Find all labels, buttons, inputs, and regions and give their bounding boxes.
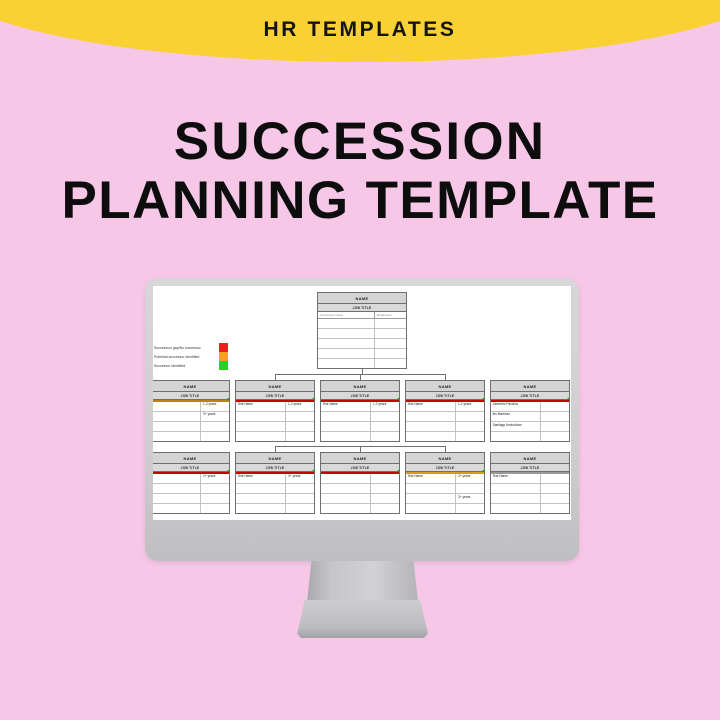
cell-readiness[interactable]: 1-2 years [456,402,484,411]
cell-readiness[interactable] [371,422,399,431]
connector-line [360,374,361,380]
cell-successor-name[interactable] [318,359,375,368]
cell-successor-name[interactable] [321,504,371,513]
cell-successor-name[interactable]: Santiago Kechichian [491,422,541,431]
comment-flag-icon [312,398,315,401]
table-row[interactable] [321,474,399,484]
node-job-title: JOB TITLE [406,464,484,472]
cell-readiness[interactable] [541,432,569,441]
table-row[interactable] [321,504,399,513]
comment-flag-icon [227,470,230,473]
node-name: NAME [321,453,399,464]
cell-successor-name[interactable] [406,504,456,513]
table-row[interactable]: 2+ years [153,474,229,484]
table-row[interactable] [406,484,484,494]
org-node-l2-4[interactable]: NAMEJOB TITLETest Name1-2 years [405,380,485,442]
comment-flag-icon [482,470,485,473]
comment-flag-icon [567,398,570,401]
cell-readiness[interactable] [201,484,229,493]
table-row[interactable] [236,484,314,494]
legend-label: Succession gap/No successor [154,346,216,350]
chart-legend: Succession gap/No successorPotential suc… [154,343,228,370]
cell-successor-name[interactable]: Test Name [321,402,371,411]
cell-readiness[interactable] [541,422,569,431]
node-job-title: JOB TITLE [153,464,229,472]
node-job-title: JOB TITLE [321,464,399,472]
cell-successor-name[interactable] [318,319,375,328]
cell-successor-name[interactable] [406,494,456,503]
table-row[interactable] [318,359,406,368]
comment-flag-icon [397,470,400,473]
node-name: NAME [406,381,484,392]
legend-item: Potential successor identified [154,352,228,361]
table-row[interactable]: Demetrio Pacchia [491,402,569,412]
legend-swatch [219,352,228,361]
node-name: NAME [491,381,569,392]
cell-successor-name[interactable]: Test Name [236,474,286,483]
org-node-l2-5[interactable]: NAMEJOB TITLEDemetrio PacchiaIris Martin… [490,380,570,442]
cell-successor-name[interactable] [153,474,201,483]
legend-label: Successor identified [154,364,216,368]
cell-successor-name[interactable] [236,422,286,431]
node-name: NAME [318,293,406,304]
cell-readiness[interactable] [375,359,406,368]
cell-readiness[interactable] [371,432,399,441]
table-row[interactable] [318,329,406,339]
page-title: SUCCESSION PLANNING TEMPLATE [0,112,720,230]
cell-successor-name[interactable] [153,504,201,513]
cell-readiness[interactable]: 2+ years [456,494,484,503]
node-name: NAME [406,453,484,464]
node-name: NAME [236,453,314,464]
cell-readiness[interactable] [375,349,406,358]
org-node-l3-4[interactable]: NAMEJOB TITLETest Name2+ years2+ years [405,452,485,514]
org-node-root[interactable]: NAMEJOB TITLESuccessor nameReadiness [317,292,407,369]
node-job-title: JOB TITLE [491,464,569,472]
table-row[interactable] [236,494,314,504]
table-row[interactable] [236,432,314,441]
cell-successor-name[interactable] [153,494,201,503]
cell-successor-name[interactable] [491,504,541,513]
cell-readiness[interactable] [286,504,314,513]
connector-line [275,446,276,452]
cell-successor-name[interactable]: Test Name [491,474,541,483]
cell-readiness[interactable] [456,422,484,431]
node-job-title: JOB TITLE [321,392,399,400]
cell-successor-name[interactable] [318,339,375,348]
cell-successor-name[interactable] [321,412,371,421]
table-row[interactable]: Test Name2+ years [406,474,484,484]
comment-flag-icon [227,398,230,401]
cell-successor-name[interactable] [236,484,286,493]
cell-successor-name[interactable] [321,494,371,503]
table-row[interactable]: Test Name3+ years [236,474,314,484]
cell-successor-name[interactable]: Test Name [236,402,286,411]
node-successor-table[interactable]: Test Name1-2 years [406,402,484,441]
cell-readiness[interactable] [371,484,399,493]
cell-readiness[interactable] [541,402,569,411]
node-job-title: JOB TITLE [406,392,484,400]
table-row[interactable]: Test Name1-2 years [236,402,314,412]
cell-successor-name[interactable] [236,494,286,503]
comment-flag-icon [312,470,315,473]
cell-successor-name[interactable] [406,432,456,441]
node-successor-table[interactable]: 1-2 years3+ years [153,402,229,441]
cell-readiness[interactable]: 1-2 years [371,402,399,411]
cell-readiness[interactable]: 2+ years [456,474,484,483]
headline-line-1: SUCCESSION [174,112,546,171]
cell-readiness[interactable] [286,484,314,493]
node-successor-table[interactable]: Demetrio PacchiaIris MartinezSantiago Ke… [491,402,569,441]
table-row[interactable] [153,432,229,441]
cell-readiness[interactable] [286,494,314,503]
table-row[interactable] [321,484,399,494]
table-row[interactable] [321,494,399,504]
cell-successor-name[interactable] [318,349,375,358]
cell-readiness[interactable] [201,494,229,503]
cell-readiness[interactable] [371,504,399,513]
table-row[interactable] [321,412,399,422]
monitor-stand-neck [307,561,418,602]
monitor-stand-base [297,600,428,638]
table-row[interactable]: Santiago Kechichian [491,422,569,432]
comment-flag-icon [482,398,485,401]
cell-successor-name[interactable] [321,422,371,431]
cell-readiness[interactable] [201,504,229,513]
org-node-l2-3[interactable]: NAMEJOB TITLETest Name1-2 years [320,380,400,442]
table-row[interactable] [491,494,569,504]
monitor-chin [153,520,571,561]
table-row[interactable]: Test Name1-2 years [406,402,484,412]
cell-readiness[interactable] [286,422,314,431]
cell-successor-name[interactable] [406,484,456,493]
table-row[interactable]: 2+ years [406,494,484,504]
org-node-l3-5[interactable]: NAMEJOB TITLETest Name [490,452,570,514]
cell-readiness[interactable] [541,504,569,513]
node-job-title: JOB TITLE [236,392,314,400]
cell-readiness[interactable]: 3+ years [201,412,229,421]
table-row[interactable] [153,494,229,504]
table-row[interactable]: 1-2 years [153,402,229,412]
node-successor-table[interactable]: 2+ years [153,474,229,513]
table-row[interactable]: Test Name [491,474,569,484]
cell-successor-name[interactable] [236,504,286,513]
legend-label: Potential successor identified [154,355,216,359]
node-successor-table[interactable] [318,319,406,368]
org-node-l2-1[interactable]: NAMEJOB TITLE1-2 years3+ years [153,380,230,442]
cell-successor-name[interactable] [491,494,541,503]
node-name: NAME [153,453,229,464]
org-node-l3-2[interactable]: NAMEJOB TITLETest Name3+ years [235,452,315,514]
table-row[interactable] [491,504,569,513]
table-row[interactable] [318,319,406,329]
cell-successor-name[interactable]: Iris Martinez [491,412,541,421]
table-row[interactable]: Iris Martinez [491,412,569,422]
col-readiness: Readiness [375,312,406,318]
cell-successor-name[interactable] [318,329,375,338]
table-row[interactable] [153,484,229,494]
legend-item: Succession gap/No successor [154,343,228,352]
node-successor-table[interactable] [321,474,399,513]
cell-successor-name[interactable] [153,412,201,421]
cell-readiness[interactable]: 3+ years [286,474,314,483]
node-name: NAME [153,381,229,392]
connector-line [445,446,446,452]
legend-swatch [219,361,228,370]
monitor-body: Succession gap/No successorPotential suc… [145,278,579,561]
headline-line-2: PLANNING TEMPLATE [0,171,720,230]
node-successor-table[interactable]: Test Name1-2 years [236,402,314,441]
connector-line [445,374,446,380]
table-row[interactable] [321,422,399,432]
cell-readiness[interactable] [286,432,314,441]
cell-successor-name[interactable] [236,432,286,441]
cell-readiness[interactable] [375,319,406,328]
succession-org-chart[interactable]: Succession gap/No successorPotential suc… [153,286,571,520]
cell-successor-name[interactable] [491,432,541,441]
cell-readiness[interactable] [541,494,569,503]
table-row[interactable] [321,432,399,441]
node-name: NAME [236,381,314,392]
node-name: NAME [491,453,569,464]
cell-readiness[interactable] [541,484,569,493]
monitor-screen: Succession gap/No successorPotential suc… [153,286,571,520]
node-successor-table[interactable]: Test Name2+ years2+ years [406,474,484,513]
cell-readiness[interactable]: 2+ years [201,474,229,483]
cell-readiness[interactable] [201,422,229,431]
table-row[interactable] [153,422,229,432]
org-node-l3-1[interactable]: NAMEJOB TITLE2+ years [153,452,230,514]
cell-readiness[interactable] [201,432,229,441]
cell-successor-name[interactable] [153,422,201,431]
node-successor-table[interactable]: Test Name3+ years [236,474,314,513]
node-job-title: JOB TITLE [318,304,406,312]
cell-successor-name[interactable] [153,402,201,411]
table-row[interactable] [491,432,569,441]
node-successor-table[interactable]: Test Name [491,474,569,513]
node-job-title: JOB TITLE [236,464,314,472]
node-job-title: JOB TITLE [153,392,229,400]
comment-flag-icon [397,398,400,401]
org-node-l3-3[interactable]: NAMEJOB TITLE [320,452,400,514]
cell-successor-name[interactable] [153,432,201,441]
cell-successor-name[interactable] [491,484,541,493]
cell-readiness[interactable]: 1-2 years [286,402,314,411]
banner-label: HR TEMPLATES [0,18,720,42]
node-job-title: JOB TITLE [491,392,569,400]
cell-successor-name[interactable] [321,474,371,483]
cell-successor-name[interactable] [406,412,456,421]
cell-readiness[interactable]: 1-2 years [201,402,229,411]
cell-readiness[interactable] [375,339,406,348]
org-node-l2-2[interactable]: NAMEJOB TITLETest Name1-2 years [235,380,315,442]
table-row[interactable] [236,412,314,422]
cell-readiness[interactable] [541,474,569,483]
cell-readiness[interactable] [375,329,406,338]
cell-readiness[interactable] [456,432,484,441]
table-row[interactable] [236,422,314,432]
node-name: NAME [321,381,399,392]
cell-successor-name[interactable] [236,412,286,421]
table-row[interactable] [406,504,484,513]
col-successor-name: Successor name [318,312,375,318]
connector-line [360,446,361,452]
table-row[interactable] [491,484,569,494]
cell-readiness[interactable] [286,412,314,421]
cell-readiness[interactable] [371,494,399,503]
table-row[interactable] [406,422,484,432]
cell-readiness[interactable] [456,484,484,493]
cell-readiness[interactable] [371,412,399,421]
table-row[interactable] [406,432,484,441]
connector-line [275,374,276,380]
table-row[interactable] [318,339,406,349]
table-row[interactable] [318,349,406,359]
cell-successor-name[interactable] [321,432,371,441]
table-row[interactable] [153,504,229,513]
table-row[interactable]: 3+ years [153,412,229,422]
table-row[interactable] [236,504,314,513]
cell-successor-name[interactable] [153,484,201,493]
cell-readiness[interactable] [371,474,399,483]
cell-successor-name[interactable]: Test Name [406,402,456,411]
cell-readiness[interactable] [456,504,484,513]
monitor-mockup: Succession gap/No successorPotential suc… [145,278,579,561]
cell-readiness[interactable] [541,412,569,421]
cell-successor-name[interactable]: Demetrio Pacchia [491,402,541,411]
cell-successor-name[interactable] [406,422,456,431]
node-table-header: Successor nameReadiness [318,312,406,319]
cell-successor-name[interactable] [321,484,371,493]
legend-swatch [219,343,228,352]
cell-readiness[interactable] [456,412,484,421]
table-row[interactable]: Test Name1-2 years [321,402,399,412]
node-successor-table[interactable]: Test Name1-2 years [321,402,399,441]
table-row[interactable] [406,412,484,422]
cell-successor-name[interactable]: Test Name [406,474,456,483]
legend-item: Successor identified [154,361,228,370]
